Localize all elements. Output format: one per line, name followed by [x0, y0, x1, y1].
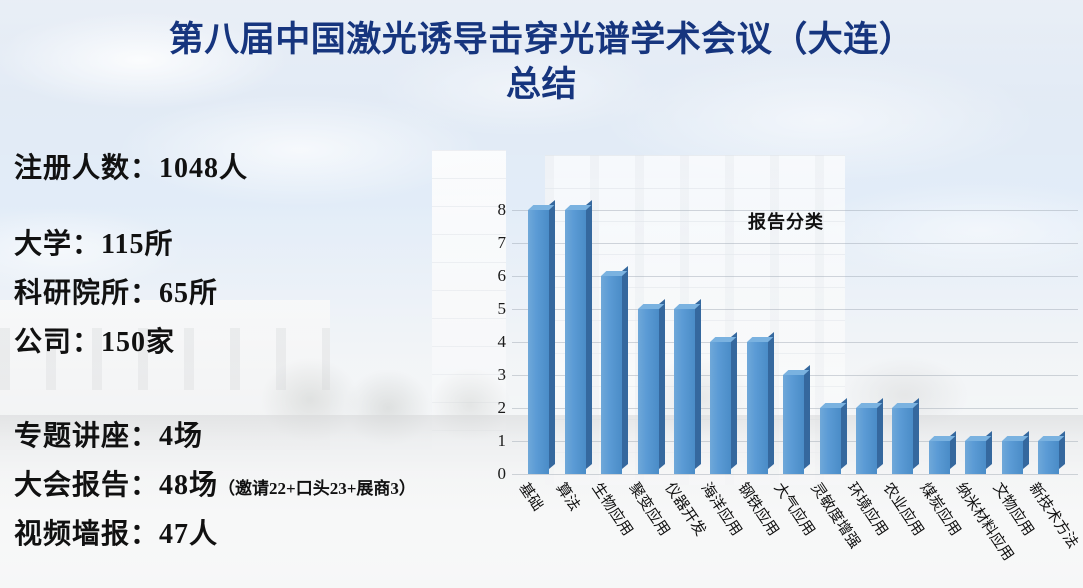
chart-bar — [747, 342, 768, 474]
chart-y-tick: 2 — [480, 398, 506, 418]
registration-stat-block: 注册人数：1048人 — [14, 146, 248, 186]
chart-x-label: 基础 — [515, 478, 549, 515]
chart-bar-side — [877, 398, 883, 469]
chart-x-label: 算法 — [551, 478, 585, 515]
chart-bar — [856, 408, 877, 474]
chart-bar-side — [841, 398, 847, 469]
conference-report-count: 大会报告：48场 — [14, 463, 218, 503]
chart-bar-side — [549, 200, 555, 469]
chart-bar — [674, 309, 695, 474]
chart-bar-side — [768, 332, 774, 469]
chart-bar-side — [804, 365, 810, 469]
video-poster-count: 视频墙报：47人 — [14, 512, 416, 552]
chart-bar — [1002, 441, 1023, 474]
chart-bar — [710, 342, 731, 474]
chart-x-axis-labels: 基础算法生物应用聚变应用仪器开发海洋应用钢铁应用大气应用灵敏度增强环境应用农业应… — [512, 478, 1078, 584]
chart-gridline — [512, 474, 1078, 475]
chart-x-label: 新技术方法 — [1025, 478, 1083, 552]
chart-bar-side — [913, 398, 919, 469]
registration-count: 注册人数：1048人 — [14, 146, 248, 186]
chart-y-axis: 012345678 — [480, 196, 512, 478]
chart-y-tick: 5 — [480, 299, 506, 319]
chart-bar — [783, 375, 804, 474]
chart-bars — [512, 210, 1078, 474]
page-title: 第八届中国激光诱导击穿光谱学术会议（大连） 总结 — [0, 18, 1083, 108]
chart-bar — [820, 408, 841, 474]
organization-stat-block: 大学：115所 科研院所：65所 公司：150家 — [14, 222, 218, 369]
chart-bar-side — [586, 200, 592, 469]
chart-bar — [601, 276, 622, 474]
conference-report-note: （邀请22+口头23+展商3） — [218, 474, 416, 499]
institutes-count: 科研院所：65所 — [14, 271, 218, 311]
chart-y-tick: 7 — [480, 233, 506, 253]
chart-bar — [638, 309, 659, 474]
chart-bar-side — [659, 299, 665, 469]
program-stat-block: 专题讲座：4场 大会报告：48场 （邀请22+口头23+展商3） 视频墙报：47… — [14, 414, 416, 561]
chart-bar-side — [622, 266, 628, 469]
chart-y-tick: 8 — [480, 200, 506, 220]
chart-y-tick: 1 — [480, 431, 506, 451]
chart-bar-side — [731, 332, 737, 469]
chart-y-tick: 3 — [480, 365, 506, 385]
conference-report-row: 大会报告：48场 （邀请22+口头23+展商3） — [14, 463, 416, 503]
chart-bar — [929, 441, 950, 474]
chart-bar — [565, 210, 586, 474]
keynote-count: 专题讲座：4场 — [14, 414, 416, 454]
chart-bar — [965, 441, 986, 474]
chart-bar — [1038, 441, 1059, 474]
chart-bar-side — [695, 299, 701, 469]
chart-bar — [528, 210, 549, 474]
presentation-slide: 第八届中国激光诱导击穿光谱学术会议（大连） 总结 注册人数：1048人 大学：1… — [0, 0, 1083, 588]
chart-bar — [892, 408, 913, 474]
chart-y-tick: 6 — [480, 266, 506, 286]
companies-count: 公司：150家 — [14, 320, 218, 360]
universities-count: 大学：115所 — [14, 222, 218, 262]
report-category-chart: 报告分类 012345678 基础算法生物应用聚变应用仪器开发海洋应用钢铁应用大… — [480, 196, 1080, 588]
chart-y-tick: 0 — [480, 464, 506, 484]
chart-y-tick: 4 — [480, 332, 506, 352]
